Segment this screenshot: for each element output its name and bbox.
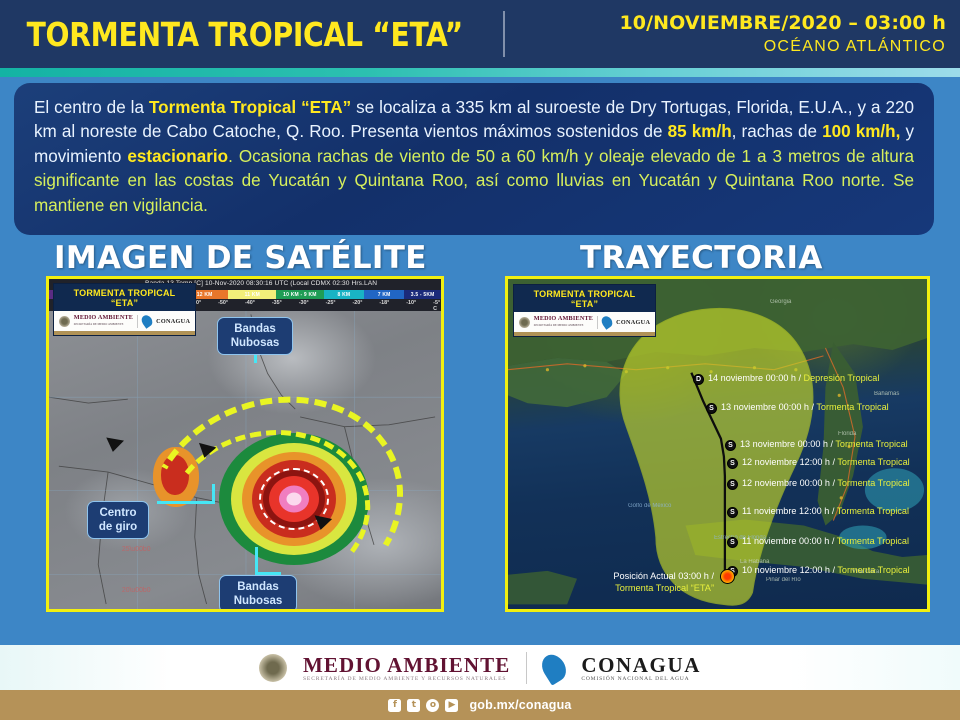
- color-scale-tick: -18°: [379, 300, 389, 306]
- track-point-marker[interactable]: S: [727, 479, 738, 490]
- track-point-time: 13 noviembre 00:00 h /: [740, 439, 835, 449]
- satellite-brand-line2: “ETA”: [111, 298, 138, 308]
- track-point-time: 12 noviembre 00:00 h /: [742, 478, 837, 488]
- brand-gold-strip: [54, 331, 195, 335]
- instagram-icon[interactable]: o: [426, 699, 439, 712]
- current-position-line1: Posición Actual 03:00 h /: [518, 571, 714, 583]
- brand-gold-strip: [514, 332, 655, 336]
- track-point-time: 10 noviembre 12:00 h /: [742, 565, 837, 575]
- trajectory-logo-conagua: CONAGUA: [616, 319, 650, 326]
- trajectory-section-title: TRAYECTORIA: [580, 240, 823, 276]
- color-scale-tick: -35°: [272, 300, 282, 306]
- color-scale-tick: -30°: [299, 300, 309, 306]
- track-point-marker[interactable]: S: [725, 440, 736, 451]
- footer-conagua-logo: CONAGUA COMISIÓN NACIONAL DEL AGUA: [581, 654, 701, 682]
- trajectory-brand-line2: “ETA”: [571, 299, 598, 309]
- satellite-brand-line1: TORMENTA TROPICAL: [74, 288, 176, 298]
- satellite-brand-title: TORMENTA TROPICAL “ETA”: [54, 284, 195, 311]
- trajectory-logo-medio-ambiente: MEDIO AMBIENTESECRETARÍA DE MEDIO AMBIEN…: [534, 315, 593, 329]
- twitter-icon[interactable]: t: [407, 699, 420, 712]
- track-point-category: Tormenta Tropical: [837, 506, 909, 516]
- track-point-label: 10 noviembre 12:00 h / Tormenta Tropical: [742, 565, 910, 575]
- annotation-centro-de-giro: Centro de giro: [87, 501, 149, 539]
- track-point-label: 11 noviembre 00:00 h / Tormenta Tropical: [742, 536, 909, 546]
- track-point-category: Tormenta Tropical: [837, 536, 909, 546]
- track-point-time: 11 noviembre 00:00 h /: [742, 536, 837, 546]
- color-scale-segment: 7 KM: [364, 290, 404, 299]
- satellite-logo-conagua: CONAGUA: [156, 318, 190, 325]
- color-scale-segment: 11 KM: [228, 290, 276, 299]
- annotation-centro-line2: de giro: [95, 520, 141, 534]
- footer-medio-ambiente-logo: MEDIO AMBIENTE SECRETARÍA DE MEDIO AMBIE…: [303, 654, 510, 682]
- mexico-seal-icon: [59, 316, 70, 327]
- mexico-national-seal-icon: [259, 654, 287, 682]
- footer-conagua-subtitle: COMISIÓN NACIONAL DEL AGUA: [581, 676, 701, 682]
- annotation-bandas-nubosas-lower: Bandas Nubosas: [219, 575, 297, 612]
- track-point-label: 13 noviembre 00:00 h / Tormenta Tropical: [721, 402, 889, 412]
- current-position-marker: [720, 569, 735, 584]
- brand-logo-divider: [137, 315, 138, 328]
- bulletin-gusts: 100 km/h,: [822, 122, 900, 141]
- water-drop-icon: [140, 313, 155, 329]
- track-point-label: 14 noviembre 00:00 h / Depresión Tropica…: [708, 373, 879, 383]
- header-divider: [503, 11, 505, 57]
- trajectory-brand-box: TORMENTA TROPICAL “ETA” MEDIO AMBIENTESE…: [513, 284, 656, 337]
- color-scale-segment: 8 KM: [324, 290, 364, 299]
- pointer-centro-v: [212, 484, 215, 504]
- track-point-label: 13 noviembre 00:00 h / Tormenta Tropical: [740, 439, 908, 449]
- trajectory-brand-line1: TORMENTA TROPICAL: [534, 289, 636, 299]
- track-point-category: Tormenta Tropical: [837, 478, 909, 488]
- page-title: TORMENTA TROPICAL “ETA”: [0, 15, 463, 54]
- footer-social-bar: f t o ▶ gob.mx/conagua: [0, 690, 960, 720]
- page-header: TORMENTA TROPICAL “ETA” 10/NOVIEMBRE/202…: [0, 0, 960, 68]
- bulletin-movement: estacionario: [127, 147, 228, 166]
- track-point-time: 11 noviembre 12:00 h /: [742, 506, 837, 516]
- gob-mx-url[interactable]: gob.mx/conagua: [469, 698, 571, 712]
- color-scale-tick: -25°: [326, 300, 336, 306]
- current-position-label: Posición Actual 03:00 h / Tormenta Tropi…: [518, 571, 714, 594]
- bulletin-datetime: 10/NOVIEMBRE/2020 – 03:00 h: [619, 12, 946, 34]
- track-point-category: Tormenta Tropical: [837, 457, 909, 467]
- color-scale-segment: 3.5 - 5KM: [404, 290, 441, 299]
- color-scale-tick: -40°: [245, 300, 255, 306]
- trajectory-brand-title: TORMENTA TROPICAL “ETA”: [514, 285, 655, 312]
- annotation-bandas-upper-line1: Bandas: [225, 322, 285, 336]
- footer-divider: [526, 652, 527, 684]
- bulletin-paragraph: El centro de la Tormenta Tropical “ETA” …: [34, 96, 914, 218]
- track-point-marker[interactable]: S: [727, 458, 738, 469]
- pointer-centro-h: [157, 501, 215, 504]
- track-point-label: 11 noviembre 12:00 h / Tormenta Tropical: [742, 506, 909, 516]
- track-point-marker[interactable]: D: [693, 374, 704, 385]
- footer-medio-ambiente-title: MEDIO AMBIENTE: [303, 654, 510, 676]
- conagua-water-drop-icon: [538, 650, 571, 685]
- track-point-category: Tormenta Tropical: [816, 402, 888, 412]
- track-point-label: 12 noviembre 12:00 h / Tormenta Tropical: [742, 457, 910, 467]
- geoname-georgia: Georgia: [770, 299, 791, 305]
- geoname-golfo-de-mexico: Golfo de México: [628, 503, 671, 509]
- satellite-image-panel[interactable]: 25\u00b020\u00b0 Bandas Nubosas Bandas N…: [46, 276, 444, 612]
- color-scale-tick: -50°: [218, 300, 228, 306]
- geoname-florida: Florida: [838, 431, 856, 437]
- mexico-seal-icon: [519, 317, 530, 328]
- track-point-label: 12 noviembre 00:00 h / Tormenta Tropical: [742, 478, 910, 488]
- bulletin-seg-3: , rachas de: [732, 122, 822, 141]
- satellite-brand-box: TORMENTA TROPICAL “ETA” MEDIO AMBIENTESE…: [53, 283, 196, 336]
- footer-logos: MEDIO AMBIENTE SECRETARÍA DE MEDIO AMBIE…: [0, 645, 960, 690]
- accent-bar: [0, 68, 960, 77]
- track-point-time: 13 noviembre 00:00 h /: [721, 402, 816, 412]
- bulletin-max-winds: 85 km/h: [668, 122, 732, 141]
- annotation-bandas-lower-line2: Nubosas: [227, 594, 289, 608]
- bulletin-storm-name: Tormenta Tropical “ETA”: [149, 98, 351, 117]
- annotation-bandas-lower-line1: Bandas: [227, 580, 289, 594]
- annotation-centro-line1: Centro: [95, 506, 141, 520]
- ocean-basin-label: OCÉANO ATLÁNTICO: [619, 38, 946, 56]
- satellite-brand-logos: MEDIO AMBIENTESECRETARÍA DE MEDIO AMBIEN…: [54, 311, 195, 331]
- pointer-bandas-2-v: [255, 547, 258, 575]
- header-meta: 10/NOVIEMBRE/2020 – 03:00 h OCÉANO ATLÁN…: [619, 12, 960, 56]
- footer-conagua-title: CONAGUA: [581, 654, 701, 676]
- annotation-bandas-upper-line2: Nubosas: [225, 336, 285, 350]
- facebook-icon[interactable]: f: [388, 699, 401, 712]
- annotation-bandas-nubosas-upper: Bandas Nubosas: [217, 317, 293, 355]
- satellite-logo-medio-ambiente: MEDIO AMBIENTESECRETARÍA DE MEDIO AMBIEN…: [74, 314, 133, 328]
- footer-medio-ambiente-subtitle: SECRETARÍA DE MEDIO AMBIENTE Y RECURSOS …: [303, 676, 510, 682]
- current-position-line2: Tormenta Tropical “ETA”: [518, 583, 714, 595]
- track-point-category: Depresión Tropical: [804, 373, 880, 383]
- color-scale-tick: -10°: [406, 300, 416, 306]
- geoname-pinar-del-rio: Pinar del Río: [766, 577, 801, 583]
- color-scale-segment: 10 KM - 9 KM: [276, 290, 324, 299]
- bulletin-text-panel: El centro de la Tormenta Tropical “ETA” …: [14, 83, 934, 235]
- trajectory-map-panel[interactable]: Luisiana Alabama Georgia Florida Golfo d…: [505, 276, 930, 612]
- track-point-marker[interactable]: S: [727, 537, 738, 548]
- water-drop-icon: [600, 314, 615, 330]
- color-scale-tick: -5° C: [433, 300, 441, 311]
- track-point-category: Tormenta Tropical: [835, 439, 907, 449]
- trajectory-brand-logos: MEDIO AMBIENTESECRETARÍA DE MEDIO AMBIEN…: [514, 312, 655, 332]
- track-point-time: 14 noviembre 00:00 h /: [708, 373, 804, 383]
- color-scale-tick: -20°: [353, 300, 363, 306]
- youtube-icon[interactable]: ▶: [445, 699, 458, 712]
- track-point-marker[interactable]: S: [706, 403, 717, 414]
- track-point-marker[interactable]: S: [727, 507, 738, 518]
- brand-logo-divider: [597, 316, 598, 329]
- geoname-bahamas: Bahamas: [874, 391, 899, 397]
- satellite-section-title: IMAGEN DE SATÉLITE: [54, 240, 427, 276]
- track-point-time: 12 noviembre 12:00 h /: [742, 457, 837, 467]
- track-point-category: Tormenta Tropical: [837, 565, 909, 575]
- bulletin-seg-1: El centro de la: [34, 98, 149, 117]
